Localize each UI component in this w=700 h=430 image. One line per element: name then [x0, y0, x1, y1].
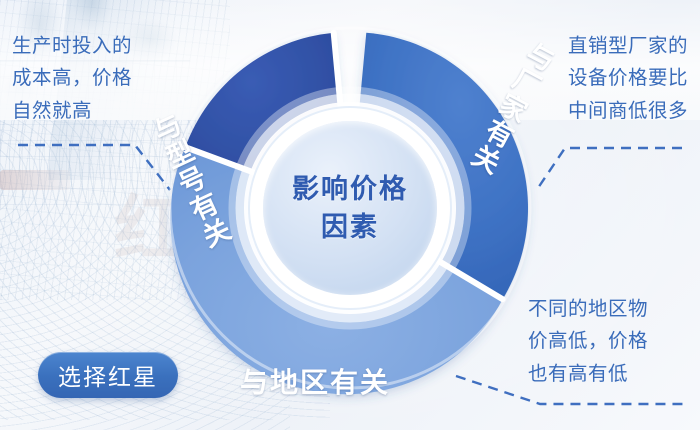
callout-manufacturer-line-1: 直销型厂家的 [568, 30, 688, 62]
callout-region-line-2: 价高低，价格 [528, 325, 688, 357]
callout-manufacturer-line-3: 中间商低很多 [568, 95, 688, 127]
callout-model-line-3: 自然就高 [12, 95, 132, 127]
callout-manufacturer-line-2: 设备价格要比 [568, 62, 688, 94]
donut-label-region: 与地区有关 [240, 361, 390, 401]
brand-pill-button[interactable]: 选择红星 [38, 352, 178, 398]
callout-region: 不同的地区物 价高低，价格 也有高有低 [528, 293, 688, 390]
background-storefront-sign [0, 170, 70, 190]
callout-region-line-3: 也有高有低 [528, 358, 688, 390]
callout-model: 生产时投入的 成本高，价格 自然就高 [12, 30, 132, 127]
callout-model-line-1: 生产时投入的 [12, 30, 132, 62]
center-title-line-1: 影响价格 [292, 170, 408, 208]
infographic-canvas: 红 [0, 0, 700, 430]
brand-pill-label: 选择红星 [58, 358, 158, 392]
connector-line-manufacturer [538, 148, 682, 188]
center-title-line-2: 因素 [321, 208, 379, 246]
callout-manufacturer: 直销型厂家的 设备价格要比 中间商低很多 [568, 30, 688, 127]
donut-center-disc: 影响价格 因素 [263, 121, 437, 295]
callout-model-line-2: 成本高，价格 [12, 62, 132, 94]
donut-chart: 与型号有关 与厂家有关 与地区有关 影响价格 因素 [147, 5, 553, 411]
callout-region-line-1: 不同的地区物 [528, 293, 688, 325]
